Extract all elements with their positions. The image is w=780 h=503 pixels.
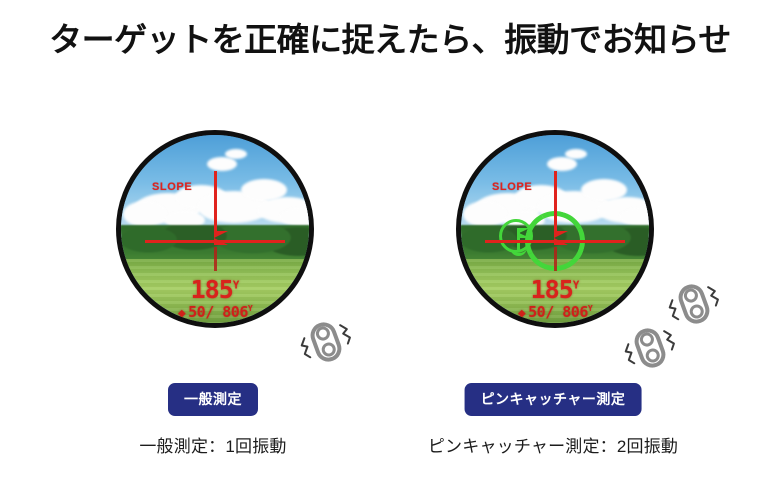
secondary-readout: ◆50/ 806Y	[121, 305, 309, 320]
distance-unit: Y	[573, 279, 580, 292]
crosshair-vertical	[554, 171, 557, 233]
secondary-unit: Y	[588, 304, 592, 313]
secondary-unit: Y	[248, 304, 252, 313]
slope-indicator: SLOPE	[152, 181, 192, 193]
vibration-wave-icon	[706, 284, 722, 308]
vibration-wave-icon	[338, 322, 354, 346]
scope-viewfinder-general: SLOPE 185Y ◆50/ 806Y	[116, 130, 314, 328]
reticle-overlay-pin-catcher: SLOPE 185Y ◆50/ 806Y	[461, 135, 649, 323]
flag-pole	[554, 247, 557, 271]
secondary-marker-icon: ◆	[178, 306, 185, 321]
scope-viewfinder-pin-catcher: SLOPE 185Y ◆50/ 806Y	[456, 130, 654, 328]
caption-pin-catcher: ピンキャッチャー測定：2回振動	[388, 432, 718, 457]
flag-marker-icon	[214, 231, 228, 245]
mode-badge-general[interactable]: 一般測定	[168, 383, 258, 416]
distance-value: 185	[191, 275, 233, 304]
distance-readout: 185Y	[121, 277, 309, 302]
vibration-icon	[618, 318, 682, 377]
distance-value: 185	[531, 275, 573, 304]
page-title: ターゲットを正確に捉えたら、振動でお知らせ	[0, 13, 780, 61]
panel-general-measurement: SLOPE 185Y ◆50/ 806Y 一般測定 一般測定：1回振動	[48, 130, 378, 480]
crosshair-vertical	[214, 171, 217, 233]
secondary-value: 50/ 806	[528, 303, 588, 321]
flag-marker-icon	[554, 231, 568, 245]
secondary-value: 50/ 806	[188, 303, 248, 321]
secondary-marker-icon: ◆	[518, 306, 525, 321]
slope-indicator: SLOPE	[492, 181, 532, 193]
distance-unit: Y	[233, 279, 240, 292]
panel-pin-catcher-measurement: SLOPE 185Y ◆50/ 806Y	[388, 130, 718, 480]
flag-pole	[214, 247, 217, 271]
distance-readout: 185Y	[461, 277, 649, 302]
caption-general: 一般測定：1回振動	[48, 432, 378, 457]
vibration-icon	[662, 274, 726, 333]
secondary-readout: ◆50/ 806Y	[461, 305, 649, 320]
reticle-overlay-general: SLOPE 185Y ◆50/ 806Y	[121, 135, 309, 323]
mode-badge-pin-catcher[interactable]: ピンキャッチャー測定	[465, 383, 642, 416]
